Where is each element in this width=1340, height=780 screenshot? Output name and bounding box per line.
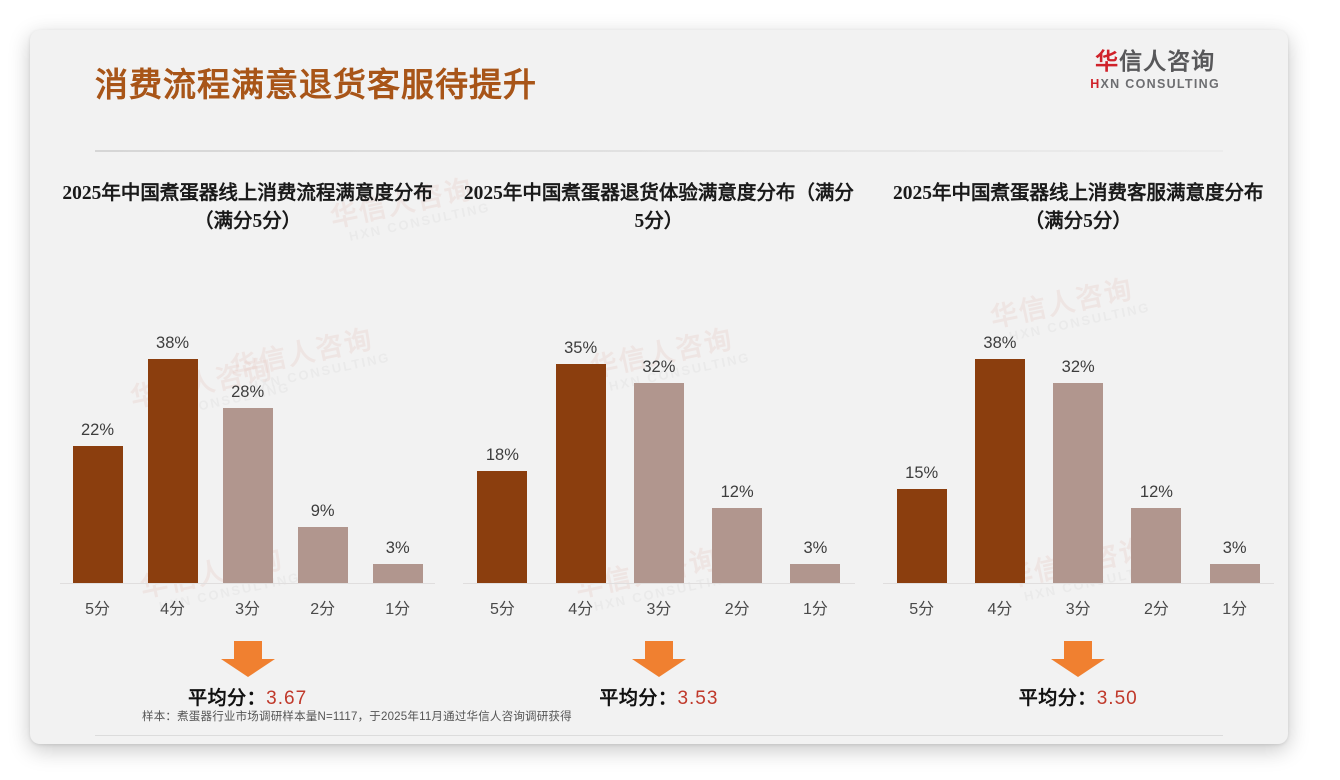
logo-en-gray: XN CONSULTING	[1101, 77, 1220, 91]
bar[interactable]	[790, 564, 840, 583]
average-score: 平均分：3.50	[883, 683, 1274, 710]
x-tick-label: 4分	[965, 595, 1035, 619]
bar[interactable]	[223, 408, 273, 583]
bar-item[interactable]: 28%	[214, 334, 282, 583]
bar-item[interactable]: 38%	[139, 334, 207, 583]
bar-group: 15% 38% 32% 12% 3%	[883, 334, 1274, 584]
bar-value-label: 18%	[486, 446, 519, 465]
page-title: 消费流程满意退货客服待提升	[95, 58, 537, 106]
bar-item[interactable]: 15%	[886, 334, 956, 583]
average-value: 3.53	[677, 688, 718, 709]
x-tick-label: 5分	[886, 595, 956, 619]
logo-english: HXN CONSULTING	[1090, 77, 1220, 91]
average-value: 3.67	[266, 688, 307, 709]
x-axis-ticks: 5分 4分 3分 2分 1分	[883, 595, 1274, 619]
bar[interactable]	[148, 359, 198, 583]
x-tick-label: 2分	[1121, 595, 1191, 619]
bar[interactable]	[897, 489, 947, 583]
chart-plot: 15% 38% 32% 12% 3%	[883, 284, 1274, 584]
slide-footer: ©2026.1 HXR华信人咨询 www.hxrcon.com	[30, 742, 1288, 744]
bar-value-label: 9%	[311, 502, 335, 521]
bar-item[interactable]: 12%	[702, 334, 772, 583]
slide-header: 消费流程满意退货客服待提升 华信人咨询 HXN CONSULTING	[30, 30, 1288, 122]
charts-row: 2025年中国煮蛋器线上消费流程满意度分布（满分5分） 22% 38% 28% …	[30, 180, 1288, 710]
bar-value-label: 38%	[983, 334, 1016, 353]
logo-cn-gray: 信人咨询	[1119, 48, 1215, 74]
logo-cn-red: 华	[1095, 48, 1119, 74]
bar-value-label: 22%	[81, 421, 114, 440]
slide-canvas: 华信人咨询 HXN CONSULTING 华信人咨询 HXN CONSULTIN…	[30, 30, 1288, 744]
bar[interactable]	[712, 508, 762, 583]
brand-logo: 华信人咨询 HXN CONSULTING	[1090, 48, 1220, 91]
bar[interactable]	[477, 471, 527, 584]
average-zone: 平均分：3.67	[60, 639, 435, 710]
bar-item[interactable]: 9%	[289, 334, 357, 583]
x-tick-label: 1分	[364, 595, 432, 619]
x-tick-label: 1分	[1199, 595, 1269, 619]
bar-item[interactable]: 12%	[1121, 334, 1191, 583]
bar[interactable]	[373, 564, 423, 583]
chart-panel-3: 2025年中国煮蛋器线上消费客服满意度分布（满分5分） 15% 38% 32% …	[869, 180, 1288, 710]
x-tick-label: 2分	[289, 595, 357, 619]
bar-group: 22% 38% 28% 9% 3%	[60, 334, 435, 584]
x-tick-label: 2分	[702, 595, 772, 619]
bar-item[interactable]: 22%	[64, 334, 132, 583]
x-tick-label: 5分	[64, 595, 132, 619]
bar-item[interactable]: 3%	[364, 334, 432, 583]
down-arrow-icon	[1047, 639, 1109, 679]
bar[interactable]	[73, 446, 123, 584]
average-zone: 平均分：3.53	[463, 639, 854, 710]
header-divider	[95, 150, 1223, 152]
bar[interactable]	[298, 527, 348, 583]
x-tick-label: 3分	[1043, 595, 1113, 619]
down-arrow-icon	[217, 639, 279, 679]
logo-en-red: H	[1090, 77, 1100, 91]
logo-chinese: 华信人咨询	[1090, 48, 1220, 74]
x-tick-label: 4分	[139, 595, 207, 619]
bar-item[interactable]: 18%	[467, 334, 537, 583]
x-tick-label: 4分	[545, 595, 615, 619]
average-score: 平均分：3.67	[60, 683, 435, 710]
bar-group: 18% 35% 32% 12% 3%	[463, 334, 854, 584]
x-axis-ticks: 5分 4分 3分 2分 1分	[60, 595, 435, 619]
chart-panel-1: 2025年中国煮蛋器线上消费流程满意度分布（满分5分） 22% 38% 28% …	[30, 180, 449, 710]
bar[interactable]	[975, 359, 1025, 583]
bar-value-label: 3%	[1223, 539, 1247, 558]
bar-item[interactable]: 32%	[624, 334, 694, 583]
chart-title: 2025年中国煮蛋器退货体验满意度分布（满分5分）	[463, 180, 854, 240]
bar[interactable]	[1053, 383, 1103, 583]
copyright-text: ©2026.1 HXR华信人咨询	[98, 742, 232, 744]
chart-title: 2025年中国煮蛋器线上消费流程满意度分布（满分5分）	[60, 180, 435, 240]
bar-item[interactable]: 32%	[1043, 334, 1113, 583]
x-tick-label: 3分	[214, 595, 282, 619]
x-axis-ticks: 5分 4分 3分 2分 1分	[463, 595, 854, 619]
bar-value-label: 3%	[803, 539, 827, 558]
bar-value-label: 35%	[564, 339, 597, 358]
chart-plot: 18% 35% 32% 12% 3%	[463, 284, 854, 584]
average-score: 平均分：3.53	[463, 683, 854, 710]
bar-value-label: 28%	[231, 383, 264, 402]
bar-value-label: 32%	[642, 358, 675, 377]
chart-title: 2025年中国煮蛋器线上消费客服满意度分布（满分5分）	[883, 180, 1274, 240]
bar-value-label: 38%	[156, 334, 189, 353]
average-label: 平均分：	[1019, 688, 1097, 709]
bar-value-label: 3%	[386, 539, 410, 558]
bar[interactable]	[634, 383, 684, 583]
bar-value-label: 32%	[1062, 358, 1095, 377]
average-zone: 平均分：3.50	[883, 639, 1274, 710]
average-value: 3.50	[1097, 688, 1138, 709]
bar[interactable]	[1210, 564, 1260, 583]
average-label: 平均分：	[599, 688, 677, 709]
bar[interactable]	[1131, 508, 1181, 583]
bar-value-label: 12%	[721, 483, 754, 502]
footer-divider	[95, 735, 1223, 736]
bar-item[interactable]: 3%	[1199, 334, 1269, 583]
website-link[interactable]: www.hxrcon.com	[1129, 742, 1220, 744]
bar-value-label: 12%	[1140, 483, 1173, 502]
chart-plot: 22% 38% 28% 9% 3%	[60, 284, 435, 584]
x-tick-label: 5分	[467, 595, 537, 619]
bar[interactable]	[556, 364, 606, 583]
down-arrow-icon	[628, 639, 690, 679]
x-tick-label: 3分	[624, 595, 694, 619]
bar-value-label: 15%	[905, 464, 938, 483]
chart-panel-2: 2025年中国煮蛋器退货体验满意度分布（满分5分） 18% 35% 32% 12…	[449, 180, 868, 710]
source-footnote: 样本：煮蛋器行业市场调研样本量N=1117，于2025年11月通过华信人咨询调研…	[142, 708, 572, 724]
bar-item[interactable]: 3%	[780, 334, 850, 583]
x-tick-label: 1分	[780, 595, 850, 619]
bar-item[interactable]: 35%	[545, 334, 615, 583]
average-label: 平均分：	[188, 688, 266, 709]
bar-item[interactable]: 38%	[965, 334, 1035, 583]
